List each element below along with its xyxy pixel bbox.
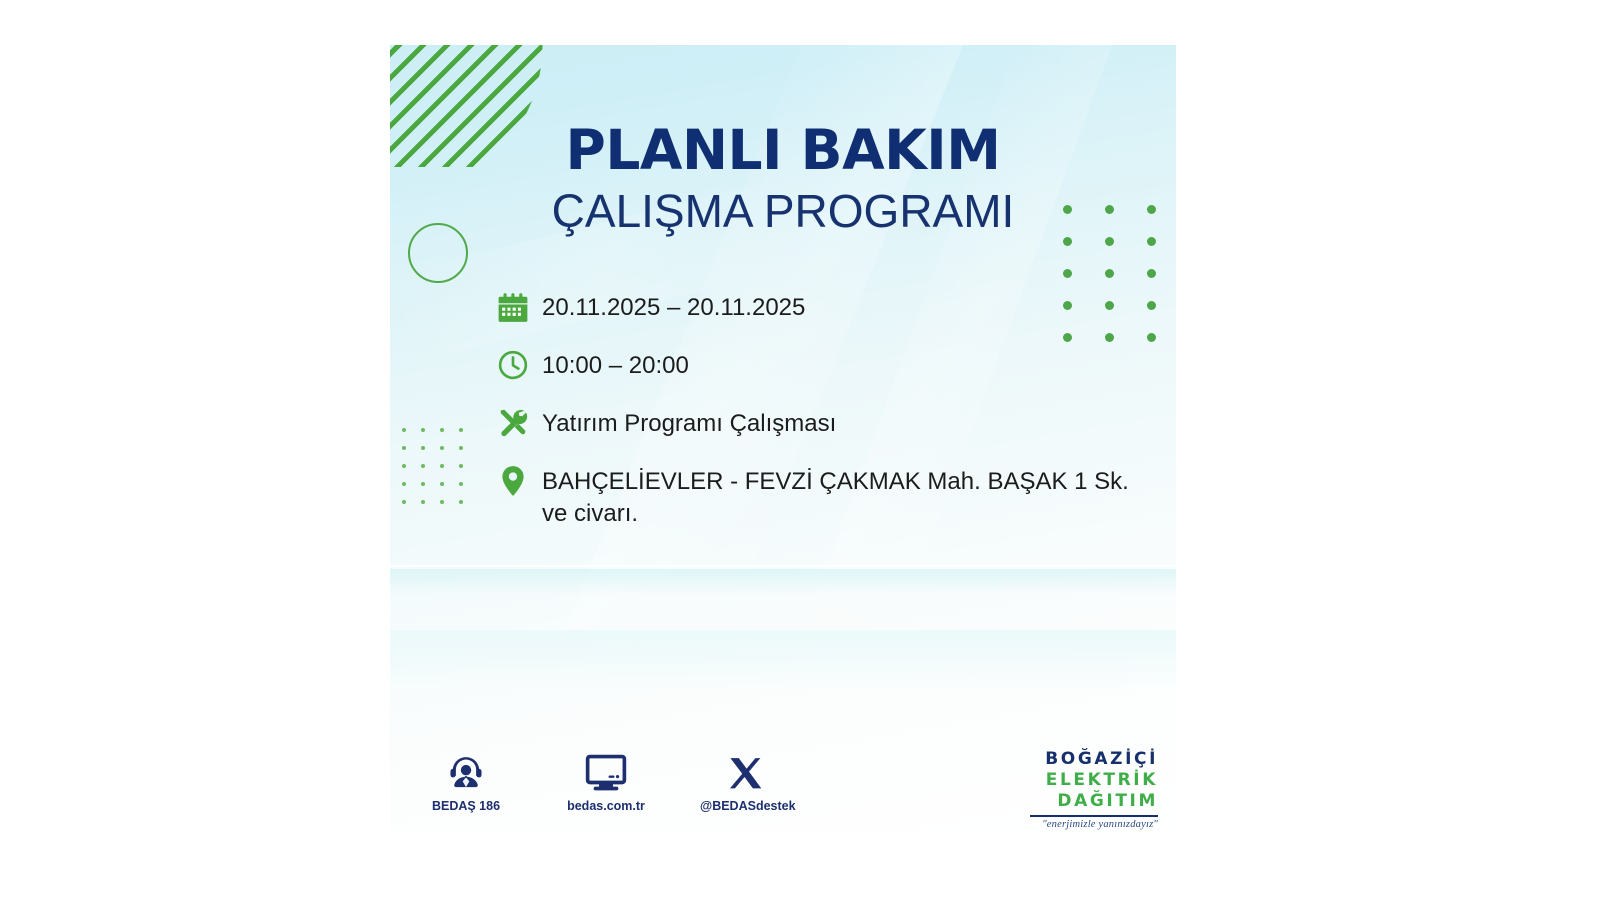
background-band (390, 569, 1176, 595)
page-title: PLANLI BAKIM (390, 123, 1176, 178)
contact-phone[interactable]: BEDAŞ 186 (420, 750, 512, 813)
logo-divider (1030, 815, 1158, 817)
page-canvas: PLANLI BAKIM ÇALIŞMA PROGRAMI (0, 0, 1600, 900)
time-range-value: 10:00 – 20:00 (542, 348, 689, 382)
page-subtitle: ÇALIŞMA PROGRAMI (390, 185, 1176, 238)
detail-row-date: 20.11.2025 – 20.11.2025 (498, 290, 1148, 324)
bedas-logo: BOĞAZİÇİ ELEKTRİK DAĞITIM "enerjimizle y… (1030, 749, 1158, 830)
notice-details: 20.11.2025 – 20.11.2025 10:00 – 20:00 (498, 290, 1148, 529)
work-type-value: Yatırım Programı Çalışması (542, 406, 836, 440)
logo-line-bogazici: BOĞAZİÇİ (1030, 749, 1158, 770)
contact-phone-label: BEDAŞ 186 (420, 799, 512, 813)
detail-row-location: BAHÇELİEVLER - FEVZİ ÇAKMAK Mah. BAŞAK 1… (498, 464, 1148, 529)
logo-tagline: "enerjimizle yanınızdayız" (1030, 819, 1158, 830)
contact-social[interactable]: @BEDASdestek (700, 750, 792, 813)
poster-heading: PLANLI BAKIM ÇALIŞMA PROGRAMI (390, 123, 1176, 238)
call-center-agent-icon (420, 750, 512, 792)
contact-website-label: bedas.com.tr (560, 799, 652, 813)
x-twitter-icon (700, 750, 792, 792)
detail-row-time: 10:00 – 20:00 (498, 348, 1148, 382)
contact-social-label: @BEDASdestek (700, 799, 792, 813)
background-band (390, 565, 1176, 567)
dot-grid-decoration-left (402, 428, 478, 518)
clock-icon (498, 348, 542, 382)
map-pin-icon (498, 464, 542, 498)
date-range-value: 20.11.2025 – 20.11.2025 (542, 290, 805, 324)
maintenance-notice-poster: PLANLI BAKIM ÇALIŞMA PROGRAMI (390, 45, 1176, 832)
calendar-icon (498, 290, 542, 324)
logo-line-elektrik: ELEKTRİK (1030, 770, 1158, 791)
detail-row-work-type: Yatırım Programı Çalışması (498, 406, 1148, 440)
monitor-icon (560, 750, 652, 792)
location-value: BAHÇELİEVLER - FEVZİ ÇAKMAK Mah. BAŞAK 1… (542, 464, 1148, 529)
contact-channels: BEDAŞ 186 bedas.com.tr (420, 750, 792, 813)
contact-website[interactable]: bedas.com.tr (560, 750, 652, 813)
logo-line-dagitim: DAĞITIM (1030, 791, 1158, 812)
background-band (390, 630, 1176, 690)
tools-icon (498, 406, 542, 440)
